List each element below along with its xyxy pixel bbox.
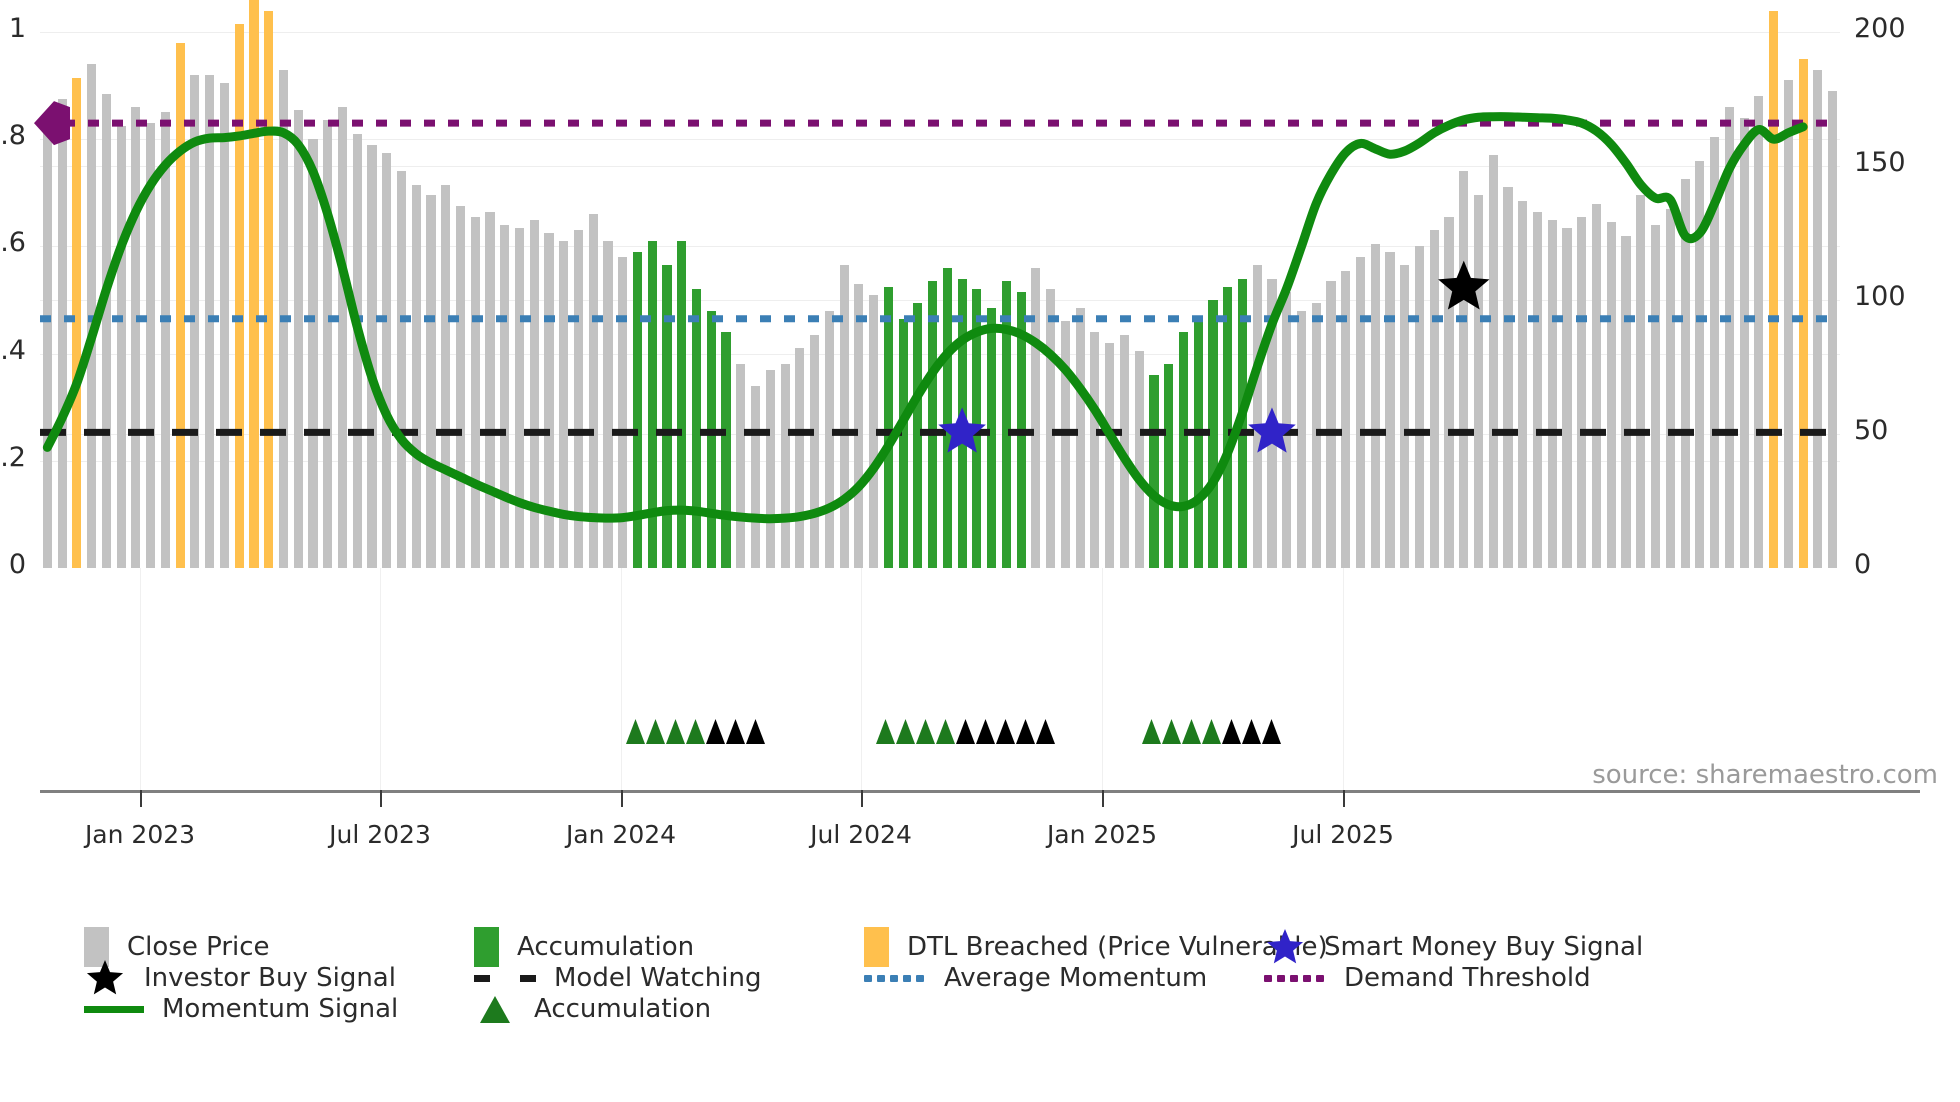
x-tick-label-jan-2024: Jan 2024 bbox=[545, 820, 697, 849]
accumulation-triangle-black-icon bbox=[746, 719, 765, 744]
y-left-tick-0.2: 0.2 bbox=[0, 442, 26, 473]
legend-item-momentum-signal[interactable]: Momentum Signal bbox=[84, 987, 398, 1031]
y-left-tick-0.6: 0.6 bbox=[0, 227, 26, 258]
x-tick-label-jul-2024: Jul 2024 bbox=[785, 820, 937, 849]
smart-money-buy-signal-star-icon bbox=[1248, 407, 1296, 452]
y-right-tick-0: 0 bbox=[1854, 549, 1871, 580]
y-right-tick-150: 150 bbox=[1854, 147, 1906, 178]
accumulation-triangle-green-icon bbox=[666, 719, 685, 744]
accumulation-triangle-black-icon bbox=[1222, 719, 1241, 744]
accumulation-triangle-green-icon bbox=[896, 719, 915, 744]
accumulation-triangle-green-icon bbox=[1162, 719, 1181, 744]
accumulation-triangle-black-icon bbox=[1262, 719, 1281, 744]
accumulation-triangle-black-icon bbox=[1016, 719, 1035, 744]
legend-label: Momentum Signal bbox=[162, 994, 398, 1024]
accumulation-triangle-green-icon bbox=[1202, 719, 1221, 744]
accumulation-triangle-green-icon bbox=[686, 719, 705, 744]
x-axis-line bbox=[40, 790, 1920, 793]
plot-area bbox=[40, 32, 1840, 568]
accumulation-triangle-black-icon bbox=[956, 719, 975, 744]
demand-threshold-marker-icon bbox=[34, 101, 70, 145]
accumulation-triangle-green-icon bbox=[876, 719, 895, 744]
legend-swatch-triangle-icon bbox=[474, 988, 516, 1030]
source-attribution: source: sharemaestro.com bbox=[1592, 760, 1938, 790]
legend-swatch-line bbox=[84, 1006, 144, 1013]
accumulation-triangle-cluster bbox=[1142, 718, 1312, 750]
accumulation-triangle-green-icon bbox=[936, 719, 955, 744]
x-tick-label-jul-2025: Jul 2025 bbox=[1267, 820, 1419, 849]
legend-item-average-momentum[interactable]: Average Momentum bbox=[864, 956, 1207, 1000]
y-right-tick-200: 200 bbox=[1854, 13, 1906, 44]
y-right-tick-50: 50 bbox=[1854, 415, 1888, 446]
y-left-tick-1: 1 bbox=[9, 13, 26, 44]
accumulation-triangle-black-icon bbox=[1036, 719, 1055, 744]
x-tick-label-jan-2023: Jan 2023 bbox=[64, 820, 216, 849]
y-left-tick-0: 0 bbox=[9, 549, 26, 580]
series-overlay bbox=[40, 32, 1840, 568]
legend-item-demand-threshold[interactable]: Demand Threshold bbox=[1264, 956, 1591, 1000]
accumulation-triangle-black-icon bbox=[1242, 719, 1261, 744]
legend-label: Accumulation bbox=[534, 994, 711, 1024]
accumulation-triangle-black-icon bbox=[996, 719, 1015, 744]
x-tick-mark bbox=[861, 790, 863, 807]
accumulation-triangle-green-icon bbox=[1142, 719, 1161, 744]
x-tick-mark bbox=[621, 790, 623, 807]
accumulation-triangle-markers bbox=[0, 718, 1960, 758]
accumulation-triangle-cluster bbox=[626, 718, 796, 750]
investor-buy-signal-star-icon bbox=[1438, 261, 1489, 310]
accumulation-triangle-green-icon bbox=[646, 719, 665, 744]
accumulation-triangle-black-icon bbox=[706, 719, 725, 744]
accumulation-triangle-black-icon bbox=[726, 719, 745, 744]
legend-item-accumulation[interactable]: Accumulation bbox=[474, 987, 711, 1031]
x-tick-label-jan-2025: Jan 2025 bbox=[1026, 820, 1178, 849]
y-left-tick-0.8: 0.8 bbox=[0, 120, 26, 151]
accumulation-triangle-green-icon bbox=[626, 719, 645, 744]
x-tick-mark bbox=[1343, 790, 1345, 807]
smart-money-buy-signal-star-icon bbox=[938, 407, 986, 452]
legend-label: Average Momentum bbox=[944, 963, 1207, 993]
chart-canvas: 00.20.40.60.81 050100150200 Jan 2023Jul … bbox=[0, 0, 1960, 1102]
accumulation-triangle-green-icon bbox=[1182, 719, 1201, 744]
x-tick-mark bbox=[1102, 790, 1104, 807]
y-right-tick-100: 100 bbox=[1854, 281, 1906, 312]
accumulation-triangle-black-icon bbox=[976, 719, 995, 744]
x-tick-mark bbox=[380, 790, 382, 807]
x-tick-mark bbox=[140, 790, 142, 807]
x-tick-label-jul-2023: Jul 2023 bbox=[304, 820, 456, 849]
accumulation-triangle-cluster bbox=[876, 718, 1086, 750]
legend-label: Demand Threshold bbox=[1344, 963, 1591, 993]
accumulation-triangle-green-icon bbox=[916, 719, 935, 744]
y-left-tick-0.4: 0.4 bbox=[0, 335, 26, 366]
chart-legend: Close PriceAccumulationDTL Breached (Pri… bbox=[84, 925, 1914, 1055]
